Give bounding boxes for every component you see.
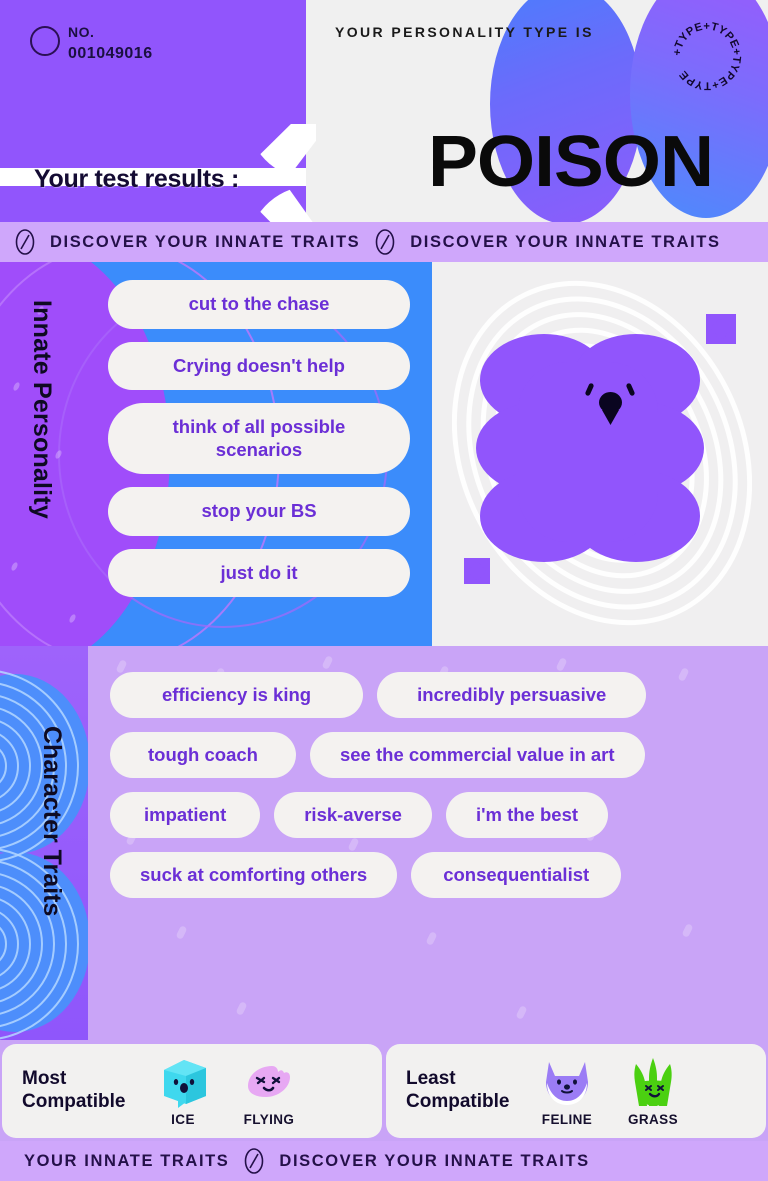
- clover-sparkle-icon: [464, 558, 490, 584]
- title-line-2: Compatible: [22, 1091, 146, 1114]
- character-traits-body: efficiency is king incredibly persuasive…: [88, 646, 768, 1040]
- dash-decor: [426, 931, 438, 946]
- trait-pill[interactable]: incredibly persuasive: [377, 672, 646, 718]
- flying-wing-icon: [242, 1056, 296, 1108]
- clover-sparkle-icon: [706, 314, 736, 344]
- compatibility-section: Most Compatible ICE: [0, 1040, 768, 1141]
- dash-decor: [176, 925, 188, 940]
- mascot-nose-icon: [599, 392, 622, 413]
- type-ring-text-icon: +TYPE+TYPE+TYPE+TYPE: [667, 16, 747, 96]
- innate-personality-section: Innate Personality cut to the chase Cryi…: [0, 262, 768, 646]
- dash-decor: [516, 1005, 528, 1020]
- marquee-text: DISCOVER YOUR INNATE TRAITS: [50, 233, 360, 252]
- ice-cube-icon: [156, 1056, 210, 1108]
- character-traits-label: Character Traits: [24, 726, 66, 916]
- trait-pill[interactable]: consequentialist: [411, 852, 621, 898]
- innate-personality-list: cut to the chase Crying doesn't help thi…: [108, 280, 410, 610]
- compat-item-flying[interactable]: FLYING: [238, 1056, 300, 1127]
- personality-type-name: POISON: [428, 126, 713, 198]
- character-traits-list: efficiency is king incredibly persuasive…: [110, 672, 760, 912]
- compat-item-feline[interactable]: FELINE: [536, 1056, 598, 1127]
- oval-slash-icon: [241, 1148, 267, 1174]
- trait-pill[interactable]: tough coach: [110, 732, 296, 778]
- innate-personality-label: Innate Personality: [16, 300, 56, 519]
- page-title: Your test results :: [34, 165, 239, 194]
- least-compatible-items: FELINE GRASS: [536, 1056, 684, 1127]
- traits-row: suck at comforting others consequentiali…: [110, 852, 760, 898]
- innate-trait-pill[interactable]: think of all possible scenarios: [108, 403, 410, 474]
- marquee-band-top: DISCOVER YOUR INNATE TRAITS DISCOVER YOU…: [0, 222, 768, 262]
- character-traits-section: Character Traits efficiency is king incr…: [0, 646, 768, 1040]
- marquee-text: YOUR INNATE TRAITS: [24, 1152, 229, 1171]
- personality-type-prompt: YOUR PERSONALITY TYPE IS: [335, 24, 594, 40]
- trait-pill[interactable]: impatient: [110, 792, 260, 838]
- compat-type-name: GRASS: [628, 1112, 678, 1127]
- trait-pill[interactable]: see the commercial value in art: [310, 732, 645, 778]
- least-compatible-title: Least Compatible: [406, 1068, 530, 1114]
- marquee-band-bottom: YOUR INNATE TRAITS DISCOVER YOUR INNATE …: [0, 1141, 768, 1181]
- traits-row: tough coach see the commercial value in …: [110, 732, 760, 778]
- compat-type-name: ICE: [171, 1112, 195, 1127]
- title-line-1: Most: [22, 1068, 146, 1091]
- innate-trait-pill[interactable]: just do it: [108, 549, 410, 598]
- most-compatible-card: Most Compatible ICE: [2, 1044, 382, 1138]
- traits-row: impatient risk-averse i'm the best: [110, 792, 760, 838]
- svg-text:+TYPE+TYPE+TYPE+TYPE: +TYPE+TYPE+TYPE+TYPE: [671, 21, 742, 92]
- title-line-1: Least: [406, 1068, 530, 1091]
- compat-item-grass[interactable]: GRASS: [622, 1056, 684, 1127]
- dash-decor: [236, 1001, 248, 1016]
- dash-decor: [682, 923, 694, 938]
- innate-personality-panel: Innate Personality cut to the chase Cryi…: [0, 262, 432, 646]
- oval-slash-icon: [372, 229, 398, 255]
- dash-decor: [322, 655, 334, 670]
- marquee-text: DISCOVER YOUR INNATE TRAITS: [410, 233, 720, 252]
- compat-type-name: FELINE: [542, 1112, 592, 1127]
- least-compatible-card: Least Compatible FELINE: [386, 1044, 766, 1138]
- circle-icon: [30, 26, 60, 56]
- traits-row: efficiency is king incredibly persuasive: [110, 672, 760, 718]
- innate-trait-pill[interactable]: cut to the chase: [108, 280, 410, 329]
- title-line-2: Compatible: [406, 1091, 530, 1114]
- trait-pill[interactable]: i'm the best: [446, 792, 608, 838]
- serial-number-label: NO.: [68, 24, 94, 40]
- marquee-text: DISCOVER YOUR INNATE TRAITS: [279, 1152, 589, 1171]
- oval-slash-icon: [12, 229, 38, 255]
- serial-number-value: 001049016: [68, 45, 153, 63]
- header-block: NO. 001049016 Your test results : +TYPE+…: [0, 0, 768, 222]
- mascot-illustration: [432, 262, 768, 646]
- most-compatible-title: Most Compatible: [22, 1068, 146, 1114]
- innate-trait-pill[interactable]: Crying doesn't help: [108, 342, 410, 391]
- character-traits-panel: Character Traits: [0, 646, 88, 1040]
- most-compatible-items: ICE FLYING: [152, 1056, 300, 1127]
- innate-trait-pill[interactable]: stop your BS: [108, 487, 410, 536]
- trait-pill[interactable]: risk-averse: [274, 792, 432, 838]
- feline-cat-icon: [540, 1056, 594, 1108]
- compat-type-name: FLYING: [244, 1112, 295, 1127]
- compat-item-ice[interactable]: ICE: [152, 1056, 214, 1127]
- trait-pill[interactable]: suck at comforting others: [110, 852, 397, 898]
- grass-blade-icon: [626, 1056, 680, 1108]
- trait-pill[interactable]: efficiency is king: [110, 672, 363, 718]
- dash-decor: [556, 657, 568, 672]
